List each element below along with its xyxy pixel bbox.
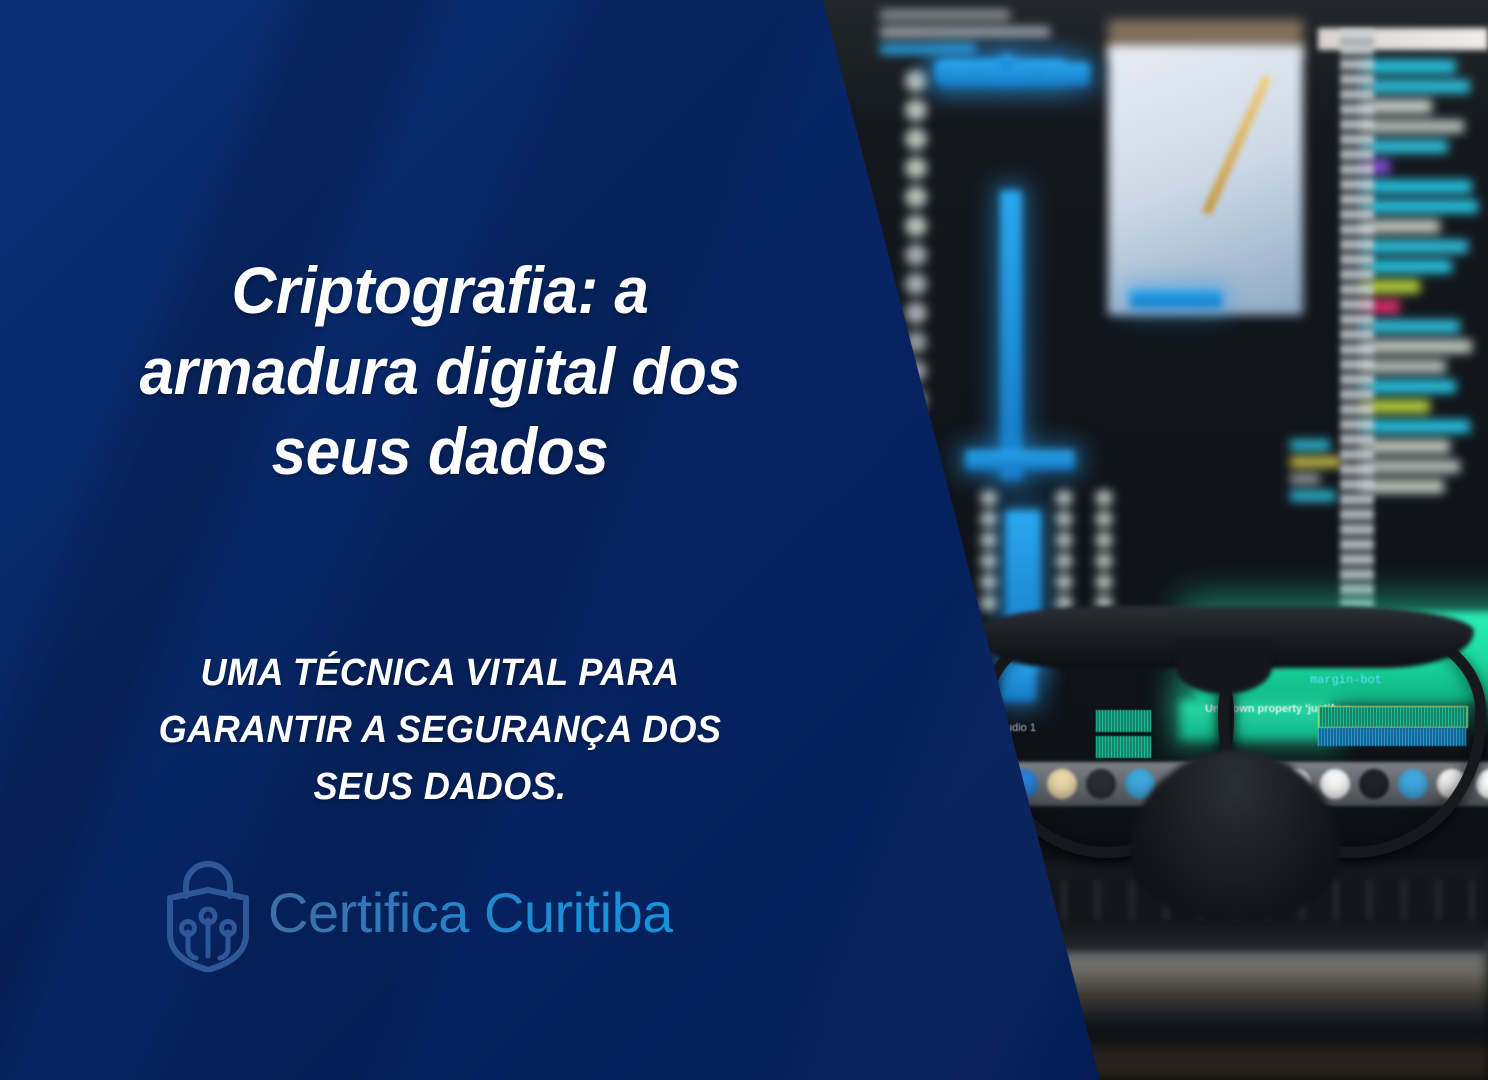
- subtitle-line-1: UMA TÉCNICA VITAL PARA: [22, 645, 858, 702]
- subtitle-line-3: SEUS DADOS.: [22, 759, 858, 816]
- brand-logo[interactable]: Certifica Curitiba: [160, 860, 673, 972]
- photo-highlight-6: [1130, 290, 1222, 308]
- photo-scroll-ruler: [1340, 30, 1374, 670]
- photo-highlight-3: [965, 450, 1075, 470]
- page-subtitle: UMA TÉCNICA VITAL PARA GARANTIR A SEGURA…: [22, 645, 858, 816]
- photo-white-panel: [1108, 45, 1303, 315]
- photo-highlight-vert: [1000, 190, 1022, 480]
- padlock-circuit-icon: [160, 860, 256, 972]
- subtitle-line-2: GARANTIR A SEGURANÇA DOS: [22, 702, 858, 759]
- poster-canvas: PsPrAe grid-row: -ms-grid-r /*background…: [0, 0, 1488, 1080]
- page-title: Criptografia: a armadura digital dos seu…: [26, 250, 853, 492]
- logo-wordmark: Certifica Curitiba: [268, 885, 673, 947]
- code-column-left: [880, 10, 1060, 61]
- photo-dot-blue: [1000, 55, 1014, 69]
- eyeglasses: [980, 600, 1488, 920]
- code-column-right: [1360, 60, 1478, 500]
- code-column-mid: [1290, 440, 1346, 508]
- title-line-2: armadura digital dos: [26, 331, 853, 412]
- title-line-3: seus dados: [26, 411, 853, 492]
- code-grid-left-3: [1095, 490, 1215, 616]
- photo-highlight-2: [940, 62, 1090, 86]
- glasses-bridge: [1176, 640, 1272, 694]
- title-line-1: Criptografia: a: [26, 250, 853, 331]
